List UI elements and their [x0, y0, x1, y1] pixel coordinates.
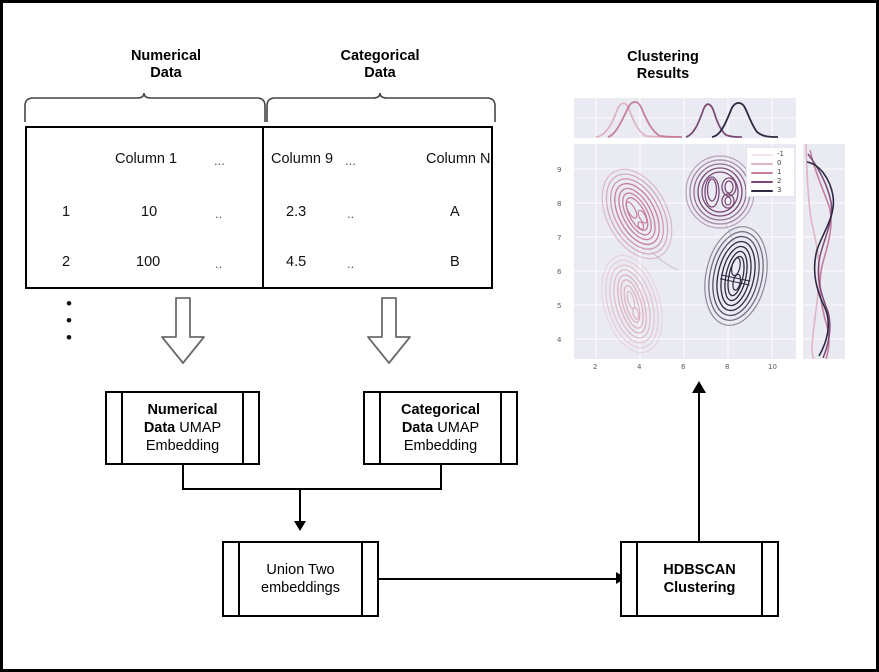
- y-tick-label: 9: [557, 166, 561, 174]
- y-tick-label: 5: [557, 302, 561, 310]
- y-tick-label: 4: [557, 336, 561, 344]
- legend-swatch-0: [751, 163, 773, 165]
- contour-cluster-2: [686, 156, 754, 228]
- results-title: Clustering Results: [578, 49, 748, 83]
- legend-label-1: 1: [777, 168, 781, 176]
- table-row-ellipsis: • • •: [65, 295, 73, 346]
- node-hdbscan-clustering[interactable]: HDBSCAN Clustering: [620, 541, 779, 617]
- connector-merge-horizontal: [182, 488, 442, 490]
- diagram-canvas: Numerical Data Categorical Data Column 1…: [0, 0, 879, 672]
- data-table: [25, 126, 493, 289]
- connector-numerical-down: [182, 465, 184, 488]
- connector-categorical-down: [440, 465, 442, 488]
- legend-label-2: 2: [777, 177, 781, 185]
- table-header-categorical-ellipsis: ...: [345, 153, 356, 168]
- table-cell-col1: 100: [136, 254, 160, 270]
- y-tick-label: 6: [557, 268, 561, 276]
- group-heading-categorical-line2: Data: [295, 65, 465, 82]
- table-cell-col9: 2.3: [286, 204, 306, 220]
- group-heading-numerical: Numerical Data: [81, 48, 251, 82]
- x-tick-label: 10: [768, 363, 777, 371]
- hdbscan-line-2: Clustering: [626, 579, 773, 597]
- table-column-divider: [262, 126, 264, 289]
- connector-hdbscan-to-results: [698, 391, 700, 541]
- label-umap: UMAP: [433, 420, 479, 436]
- group-heading-numerical-line1: Numerical: [81, 48, 251, 65]
- node-union-label: Union Two embeddings: [224, 561, 377, 597]
- label-bold-data: Data: [144, 420, 175, 436]
- label-bold-data: Data: [402, 420, 433, 436]
- x-tick-label: 8: [725, 363, 729, 371]
- arrow-into-union-icon: [294, 521, 306, 531]
- x-tick-label: 4: [637, 363, 641, 371]
- node-union-two-embeddings[interactable]: Union Two embeddings: [222, 541, 379, 617]
- clustering-results-plot: 9 8 7 6 5 4 2 4 6 8 10 -1 0 1 2 3: [541, 89, 866, 384]
- table-header-numerical-ellipsis: ...: [214, 153, 225, 168]
- results-title-line1: Clustering: [578, 49, 748, 66]
- table-cell-cat-ellipsis: ..: [347, 256, 354, 271]
- label-umap: UMAP: [175, 420, 221, 436]
- table-row-index: 2: [62, 254, 70, 270]
- group-heading-categorical-line1: Categorical: [295, 48, 465, 65]
- brace-categorical: [265, 91, 497, 128]
- table-cell-cat-ellipsis: ..: [347, 206, 354, 221]
- union-line-2: embeddings: [228, 579, 373, 597]
- union-line-1: Union Two: [228, 561, 373, 579]
- table-row-index: 1: [62, 204, 70, 220]
- table-header-column-9: Column 9: [271, 151, 333, 167]
- contour-cluster-1: [588, 158, 686, 271]
- brace-numerical: [23, 91, 267, 128]
- contour-cluster-0: [591, 248, 672, 359]
- y-tick-label: 7: [557, 234, 561, 242]
- marginal-top-panel: [574, 98, 796, 138]
- legend-label-3: 3: [777, 186, 781, 194]
- label-bold-categorical: Categorical: [401, 402, 480, 418]
- legend-swatch-2: [751, 181, 773, 183]
- table-cell-num-ellipsis: ..: [215, 256, 222, 271]
- x-tick-label: 2: [593, 363, 597, 371]
- label-embedding: Embedding: [146, 438, 219, 454]
- legend-swatch-minus1: [751, 154, 773, 156]
- y-tick-label: 8: [557, 200, 561, 208]
- label-bold-numerical: Numerical: [147, 402, 217, 418]
- legend-swatch-1: [751, 172, 773, 174]
- node-numerical-umap-embedding[interactable]: Numerical Data UMAP Embedding: [105, 391, 260, 465]
- node-numerical-umap-embedding-label: Numerical Data UMAP Embedding: [107, 401, 258, 455]
- group-heading-numerical-line2: Data: [81, 65, 251, 82]
- legend-swatch-3: [751, 190, 773, 192]
- group-heading-categorical: Categorical Data: [295, 48, 465, 82]
- table-cell-col9: 4.5: [286, 254, 306, 270]
- flow-arrow-numerical-icon: [159, 297, 207, 370]
- connector-union-to-hdbscan: [379, 578, 619, 580]
- table-header-column-1: Column 1: [115, 151, 177, 167]
- node-categorical-umap-embedding-label: Categorical Data UMAP Embedding: [365, 401, 516, 455]
- node-hdbscan-label: HDBSCAN Clustering: [622, 561, 777, 597]
- table-cell-coln: B: [450, 254, 460, 270]
- connector-merge-down: [299, 488, 301, 523]
- x-tick-label: 6: [681, 363, 685, 371]
- table-cell-coln: A: [450, 204, 460, 220]
- legend-label-minus1: -1: [777, 150, 784, 158]
- legend-label-0: 0: [777, 159, 781, 167]
- plot-legend: -1 0 1 2 3: [746, 147, 795, 197]
- results-title-line2: Results: [578, 66, 748, 83]
- marginal-right-panel: [803, 144, 845, 359]
- flow-arrow-categorical-icon: [365, 297, 413, 370]
- node-categorical-umap-embedding[interactable]: Categorical Data UMAP Embedding: [363, 391, 518, 465]
- label-embedding: Embedding: [404, 438, 477, 454]
- table-header-column-n: Column N: [426, 151, 490, 167]
- table-cell-num-ellipsis: ..: [215, 206, 222, 221]
- table-cell-col1: 10: [141, 204, 157, 220]
- hdbscan-line-1: HDBSCAN: [626, 561, 773, 579]
